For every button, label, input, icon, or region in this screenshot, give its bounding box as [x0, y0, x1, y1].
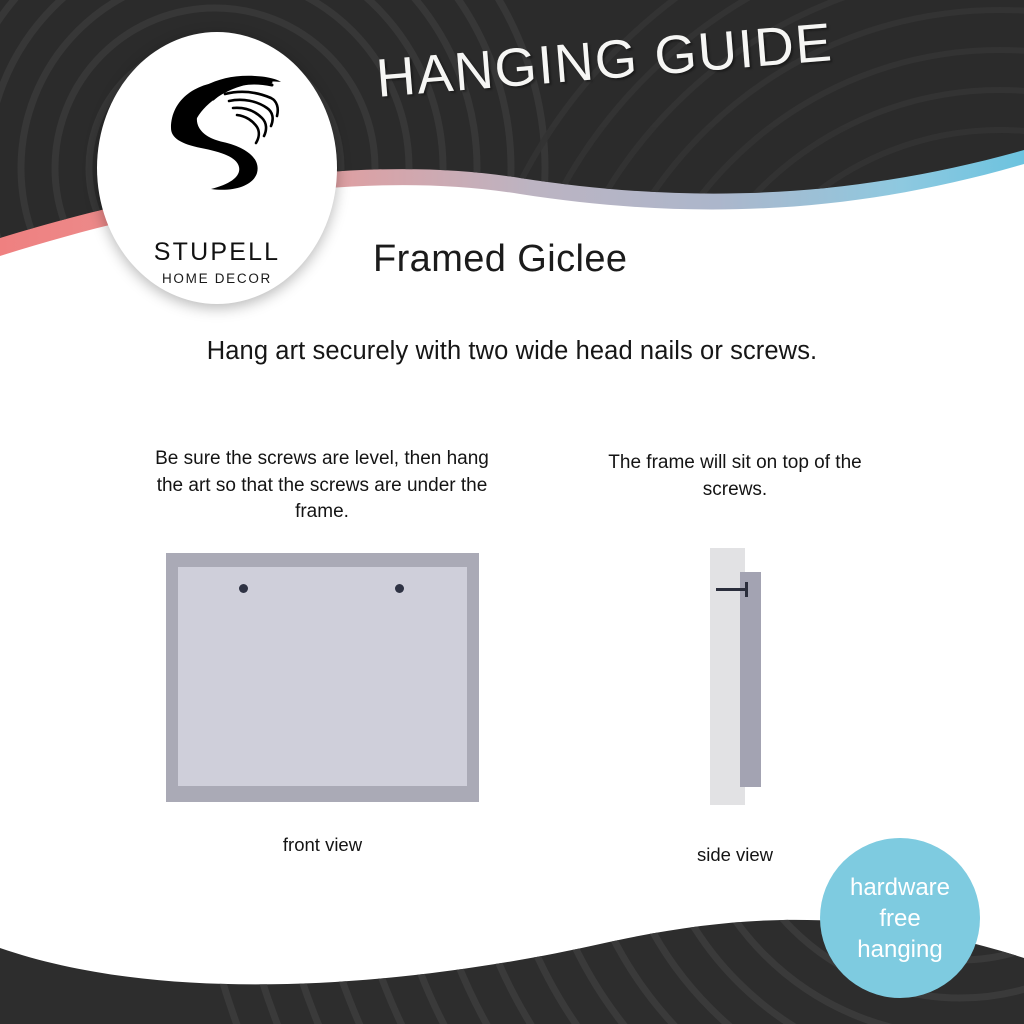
hanging-guide-infographic: HANGING GUIDE STUPELL HOME DECOR Framed …: [0, 0, 1024, 1024]
brand-sub-wordmark: HOME DECOR: [97, 271, 337, 286]
brand-logo-badge: STUPELL HOME DECOR: [97, 32, 337, 304]
brand-wordmark: STUPELL: [97, 238, 337, 267]
badge-line-1: hardware: [850, 872, 950, 903]
stupell-swoosh-logo-icon: [153, 68, 281, 194]
badge-line-2: free: [879, 903, 920, 934]
hardware-free-hanging-badge: hardware free hanging: [820, 838, 980, 998]
badge-line-3: hanging: [857, 934, 942, 965]
product-type-subtitle: Framed Giclee: [373, 238, 627, 281]
